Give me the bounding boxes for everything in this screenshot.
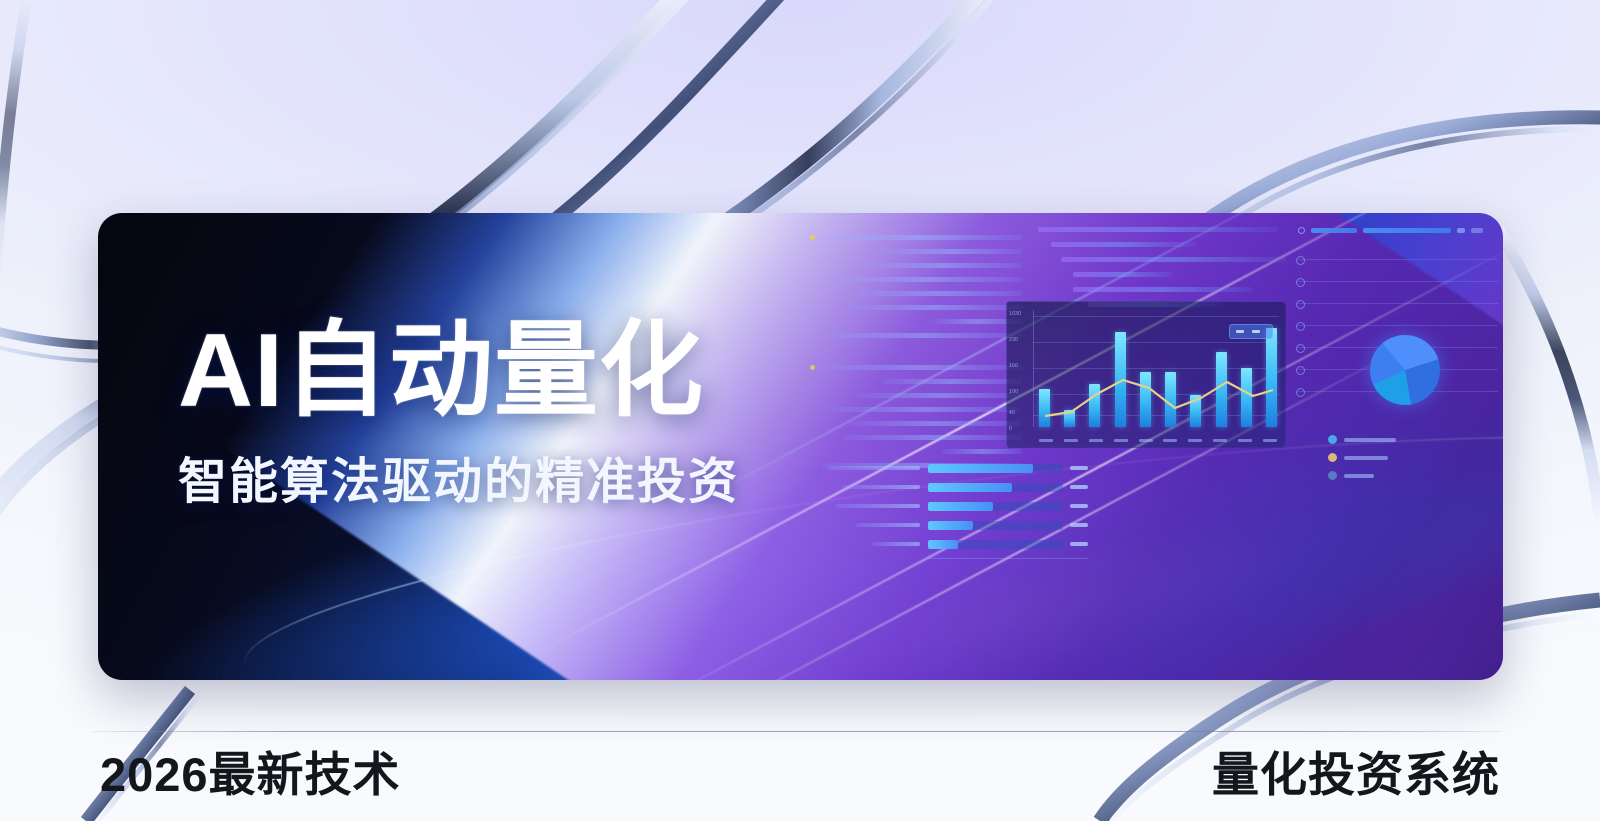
x-tick-label (1238, 439, 1252, 442)
row-bullet-icon (1296, 322, 1305, 331)
footer-divider (92, 731, 1502, 732)
code-line (822, 333, 1022, 338)
row-bullet-icon (1296, 278, 1305, 287)
legend-item (1328, 471, 1396, 480)
x-axis-labels (1039, 439, 1277, 442)
hbar-label (872, 542, 920, 546)
hbar-row (828, 463, 1088, 473)
hbar-row (828, 520, 1088, 530)
hbar-value (1070, 504, 1088, 508)
footer-bar: 2026最新技术 量化投资系统 (0, 749, 1600, 801)
y-tick-label: 40 (1009, 410, 1015, 416)
hbar-track (928, 464, 1063, 473)
code-line (822, 365, 1022, 370)
legend-label (1344, 474, 1374, 478)
hbar-value (1070, 466, 1088, 470)
terminal-line (1073, 272, 1173, 277)
page-title: AI自动量化 (178, 318, 739, 424)
hbar-track (928, 540, 1063, 549)
legend-label (1344, 438, 1396, 442)
row-bullet-icon (1296, 256, 1305, 265)
x-tick-label (1139, 439, 1153, 442)
hbar-fill (928, 502, 993, 511)
x-tick-label (1114, 439, 1128, 442)
horizontal-bar-chart (828, 463, 1088, 559)
header-pill (1457, 228, 1465, 233)
legend-swatch (1328, 453, 1337, 462)
code-line (858, 393, 1022, 398)
hbar-value (1070, 523, 1088, 527)
hbar-row (828, 501, 1088, 511)
hero-card: 1030 230 160 100 40 0 (98, 213, 1503, 680)
y-tick-label: 1030 (1009, 311, 1021, 317)
y-tick-label: 100 (1009, 389, 1018, 395)
terminal-line (1038, 227, 1278, 232)
hbar-track (928, 521, 1063, 530)
legend-item (1328, 435, 1396, 444)
row-bullet-icon (1296, 344, 1305, 353)
hbar-label (828, 466, 920, 470)
header-pill (1311, 228, 1357, 233)
hbar-row (828, 482, 1088, 492)
code-line (854, 291, 1022, 296)
code-line (834, 277, 1022, 282)
right-stats-panel (1298, 223, 1498, 523)
row-bullet-icon (1296, 366, 1305, 375)
hbar-axis (928, 558, 1088, 559)
x-tick-label (1263, 439, 1277, 442)
code-line (850, 421, 1022, 426)
x-tick-label (1089, 439, 1103, 442)
y-axis (1033, 310, 1034, 427)
chart-legend-chip[interactable] (1229, 324, 1273, 339)
x-tick-label (1039, 439, 1053, 442)
code-line (942, 449, 1022, 454)
x-tick-label (1213, 439, 1227, 442)
terminal-line (1061, 257, 1286, 262)
page-subtitle: 智能算法驱动的精准投资 (178, 442, 739, 513)
list-row (1298, 281, 1498, 282)
y-tick-label: 230 (1009, 337, 1018, 343)
legend-swatch (1328, 435, 1337, 444)
bar-chart-panel: 1030 230 160 100 40 0 (1006, 301, 1286, 448)
headline-block: AI自动量化 智能算法驱动的精准投资 (178, 318, 739, 513)
pie-legend (1328, 435, 1396, 489)
status-dot-icon (1298, 227, 1305, 234)
list-row (1298, 303, 1498, 304)
hbar-fill (928, 483, 1012, 492)
hbar-fill (928, 521, 973, 530)
list-row (1298, 325, 1498, 326)
panel-header (1298, 225, 1498, 235)
hbar-fill (928, 540, 958, 549)
hbar-fill (928, 464, 1033, 473)
hbar-track (928, 502, 1063, 511)
hbar-label (836, 504, 920, 508)
x-tick-label (1163, 439, 1177, 442)
pie-chart (1370, 335, 1440, 405)
code-line (862, 263, 1022, 268)
footer-left-label: 2026最新技术 (100, 749, 401, 801)
terminal-line (1051, 242, 1196, 247)
y-tick-label: 0 (1009, 426, 1012, 432)
code-text-panel (822, 235, 1022, 477)
x-tick-label (1188, 439, 1202, 442)
terminal-line (1073, 287, 1253, 292)
code-line (842, 435, 1022, 440)
poster-canvas: 1030 230 160 100 40 0 (0, 0, 1600, 821)
hbar-label (842, 485, 920, 489)
legend-label (1344, 456, 1388, 460)
hbar-value (1070, 542, 1088, 546)
legend-swatch (1328, 471, 1337, 480)
code-line (878, 249, 1022, 254)
hbar-value (1070, 485, 1088, 489)
x-tick-label (1064, 439, 1078, 442)
y-tick-label: 160 (1009, 363, 1018, 369)
footer-right-label: 量化投资系统 (1212, 749, 1500, 801)
hbar-track (928, 483, 1063, 492)
hbar-label (856, 523, 920, 527)
legend-item (1328, 453, 1396, 462)
code-line (882, 379, 1022, 384)
code-line (822, 235, 1022, 240)
row-bullet-icon (1296, 388, 1305, 397)
code-line (830, 407, 1022, 412)
hbar-row (828, 539, 1088, 549)
header-pill (1363, 228, 1451, 233)
header-pill (1471, 228, 1483, 233)
code-line (846, 305, 1022, 310)
list-row (1298, 259, 1498, 260)
row-bullet-icon (1296, 300, 1305, 309)
